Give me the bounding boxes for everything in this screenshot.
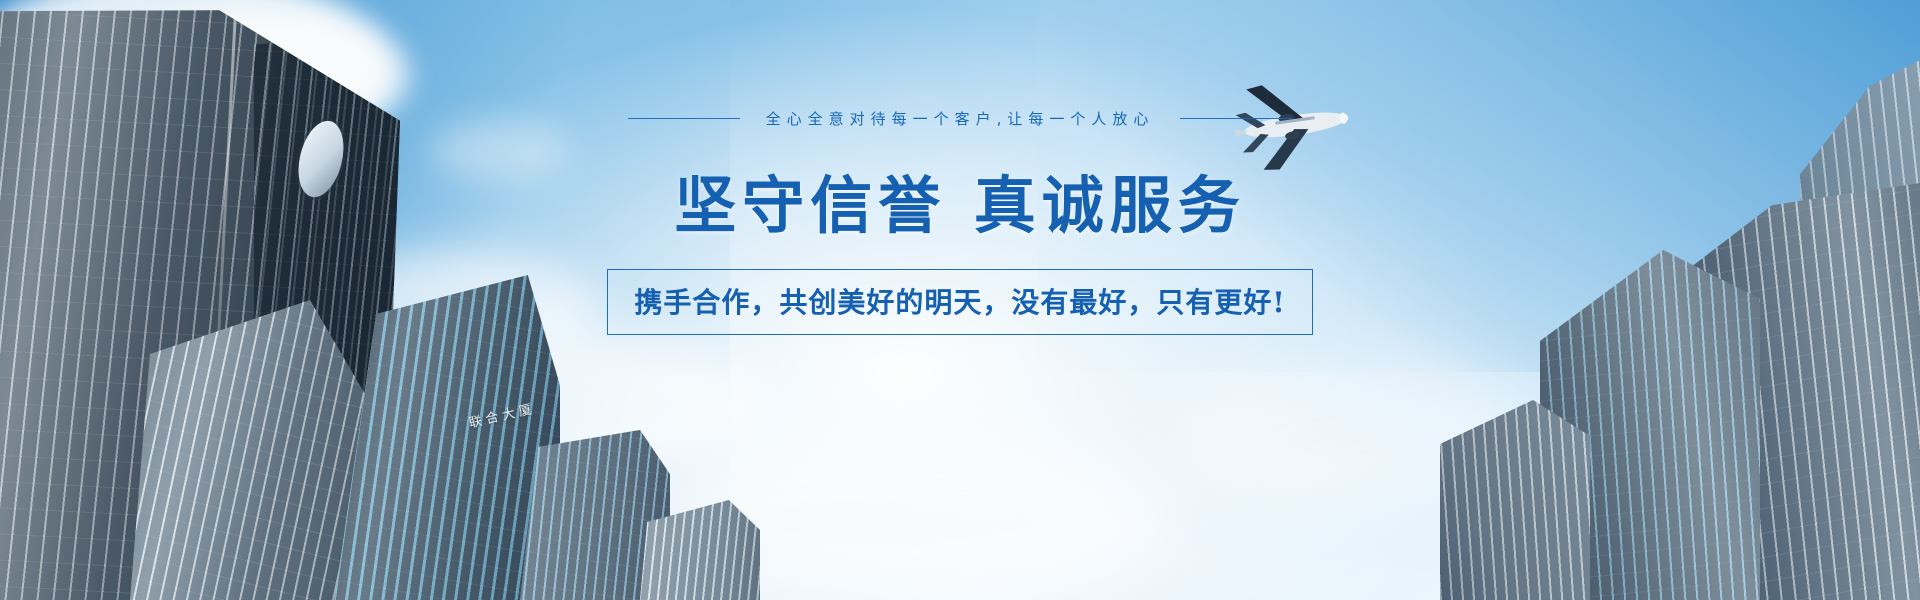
divider-rule-right-icon — [1180, 118, 1292, 119]
tagline-row: 全心全意对待每一个客户,让每一个人放心 — [628, 108, 1293, 129]
hero-banner: 联合大厦 — [0, 0, 1920, 600]
cloud — [430, 120, 570, 180]
banner-headline: 坚守信誉 真诚服务 — [674, 155, 1246, 245]
divider-rule-left-icon — [628, 118, 740, 119]
banner-subtitle-box: 携手合作，共创美好的明天，没有最好，只有更好! — [607, 269, 1312, 335]
banner-tagline: 全心全意对待每一个客户,让每一个人放心 — [766, 108, 1155, 129]
banner-subtitle: 携手合作，共创美好的明天，没有最好，只有更好! — [634, 281, 1285, 321]
